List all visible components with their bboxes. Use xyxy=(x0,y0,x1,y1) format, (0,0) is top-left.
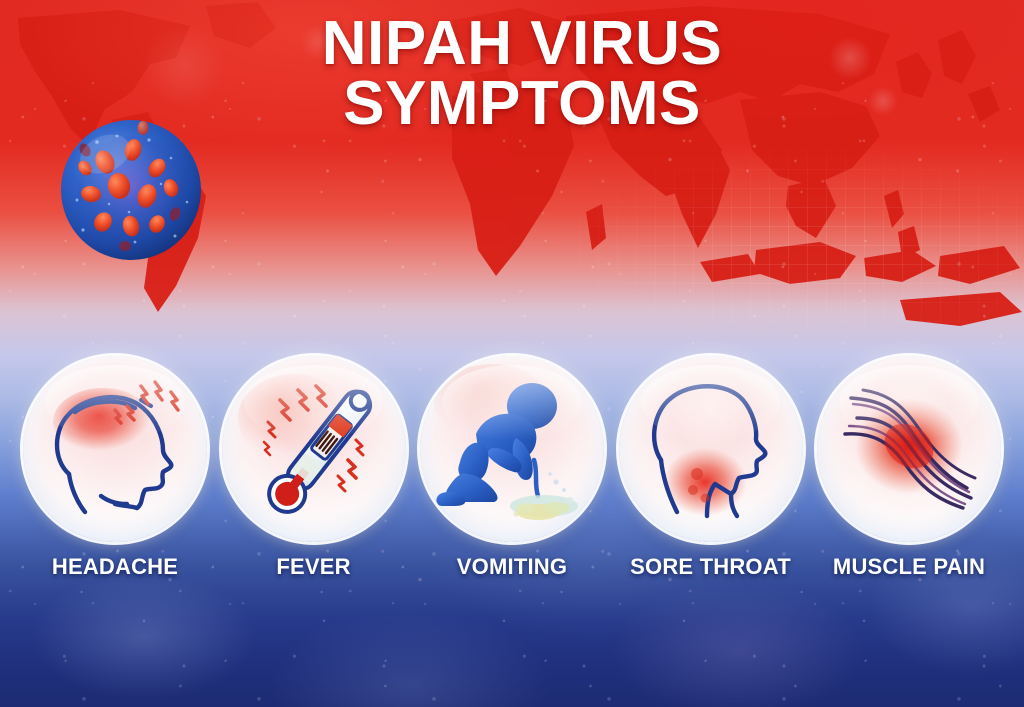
headache-icon-bubble xyxy=(23,356,207,542)
nipah-virus-symptoms-poster: NIPAH VIRUS SYMPTOMS xyxy=(0,0,1024,707)
symptom-label-muscle-pain: MUSCLE PAIN xyxy=(833,554,985,580)
thermometer-icon xyxy=(222,356,406,542)
decorative-virus-blob xyxy=(868,86,898,116)
symptom-label-sore-throat: SORE THROAT xyxy=(630,554,791,580)
fever-icon-bubble xyxy=(222,356,406,542)
symptom-label-fever: FEVER xyxy=(276,554,350,580)
symptom-item-headache[interactable]: HEADACHE xyxy=(20,356,210,580)
kneeling-person-vomiting-icon xyxy=(420,356,604,542)
tech-grid-overlay xyxy=(560,150,1024,330)
virus-particle-illustration xyxy=(8,40,254,308)
title-line-2: SYMPTOMS xyxy=(232,74,812,134)
symptom-label-vomiting: VOMITING xyxy=(457,554,567,580)
sore-throat-icon-bubble xyxy=(619,356,803,542)
title-line-1: NIPAH VIRUS xyxy=(322,9,723,78)
head-profile-throat-pain-icon xyxy=(619,356,803,542)
symptom-label-headache: HEADACHE xyxy=(52,554,178,580)
symptom-item-muscle-pain[interactable]: MUSCLE PAIN xyxy=(814,356,1004,580)
page-title: NIPAH VIRUS SYMPTOMS xyxy=(232,14,812,134)
muscle-pain-icon-bubble xyxy=(817,356,1001,542)
symptom-item-fever[interactable]: FEVER xyxy=(219,356,409,580)
symptom-list: HEADACHE xyxy=(20,356,1004,591)
muscle-fiber-pain-icon xyxy=(817,356,1001,542)
decorative-virus-blob xyxy=(828,36,872,80)
head-profile-pain-icon xyxy=(23,356,207,542)
symptom-item-sore-throat[interactable]: SORE THROAT xyxy=(616,356,806,580)
symptom-item-vomiting[interactable]: VOMITING xyxy=(417,356,607,580)
vomiting-icon-bubble xyxy=(420,356,604,542)
